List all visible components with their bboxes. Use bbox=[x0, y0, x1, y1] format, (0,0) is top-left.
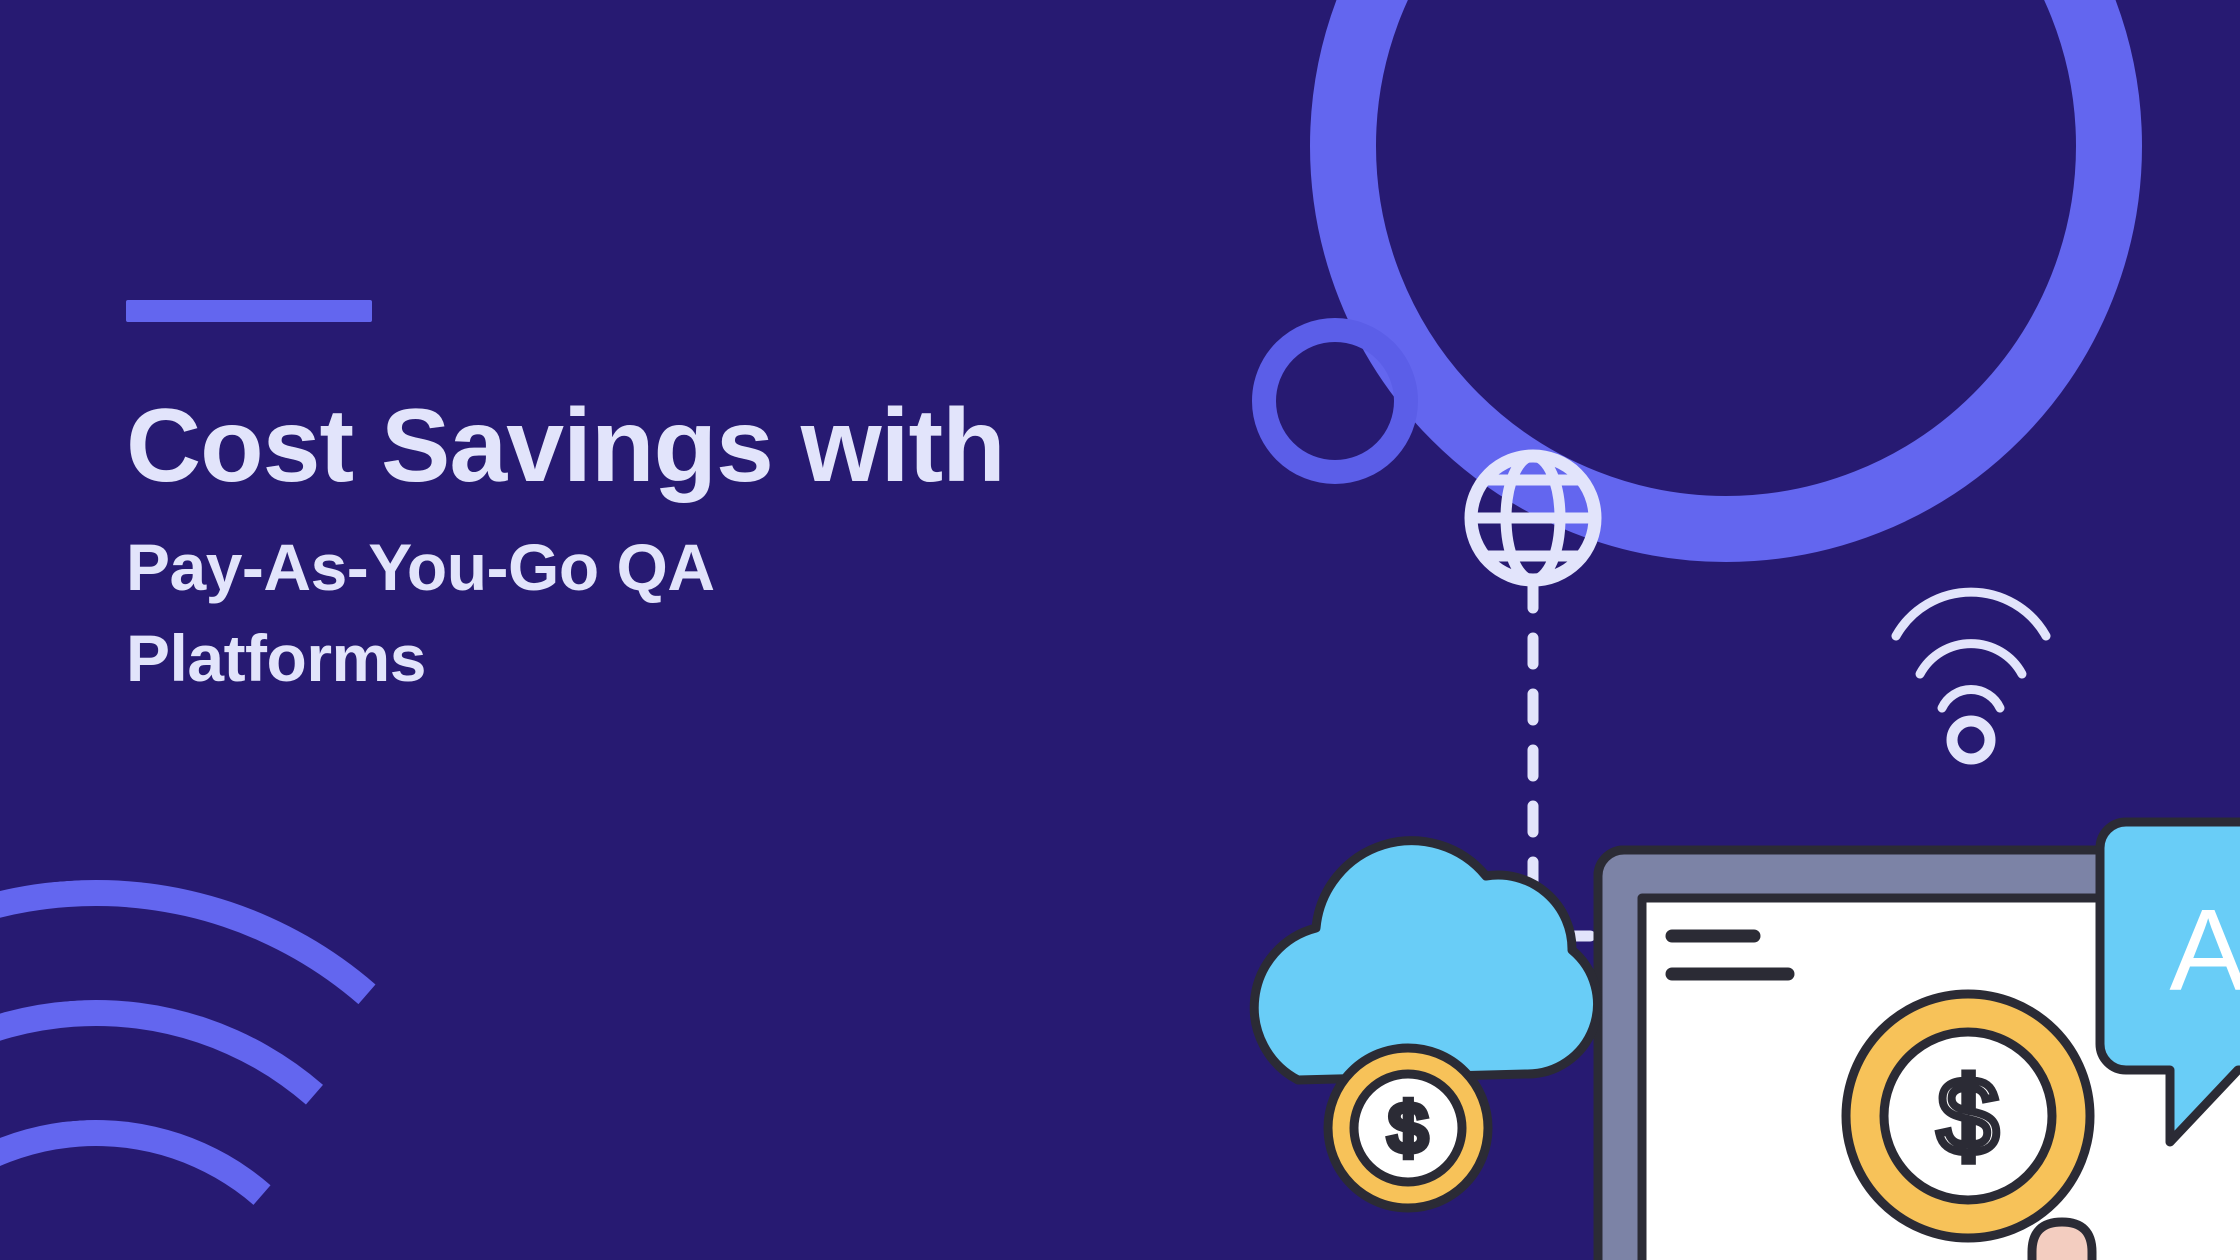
coin-dollar-symbol: $ bbox=[1938, 1056, 1998, 1177]
decorative-arc-inner bbox=[0, 1102, 380, 1260]
coin-icon-large: $ bbox=[1846, 994, 2090, 1238]
banner-root: Cost Savings with Pay-As-You-Go QA Platf… bbox=[0, 0, 2240, 1260]
headline-line-3: Platforms bbox=[126, 613, 1246, 704]
wifi-icon bbox=[1896, 592, 2046, 759]
accent-bar bbox=[126, 300, 372, 322]
cloud-icon bbox=[1254, 841, 1597, 1080]
headline-block: Cost Savings with Pay-As-You-Go QA Platf… bbox=[126, 300, 1246, 704]
ad-badge-label: AD bbox=[2169, 885, 2240, 1015]
cloud-coin-dollar-symbol: $ bbox=[1389, 1089, 1428, 1167]
headline-line-2: Pay-As-You-Go QA bbox=[126, 522, 1246, 613]
headline-line-1: Cost Savings with bbox=[126, 394, 1246, 498]
dashed-connector-left bbox=[1533, 582, 1590, 936]
decorative-arc-middle bbox=[0, 977, 465, 1260]
hero-illustration: .ol{stroke:#2b2b35;stroke-width:9;stroke… bbox=[1180, 250, 2240, 1260]
decorative-arc-outer bbox=[0, 851, 551, 1260]
coin-icon-cloud: $ bbox=[1328, 1048, 1488, 1208]
globe-icon bbox=[1471, 456, 1595, 580]
